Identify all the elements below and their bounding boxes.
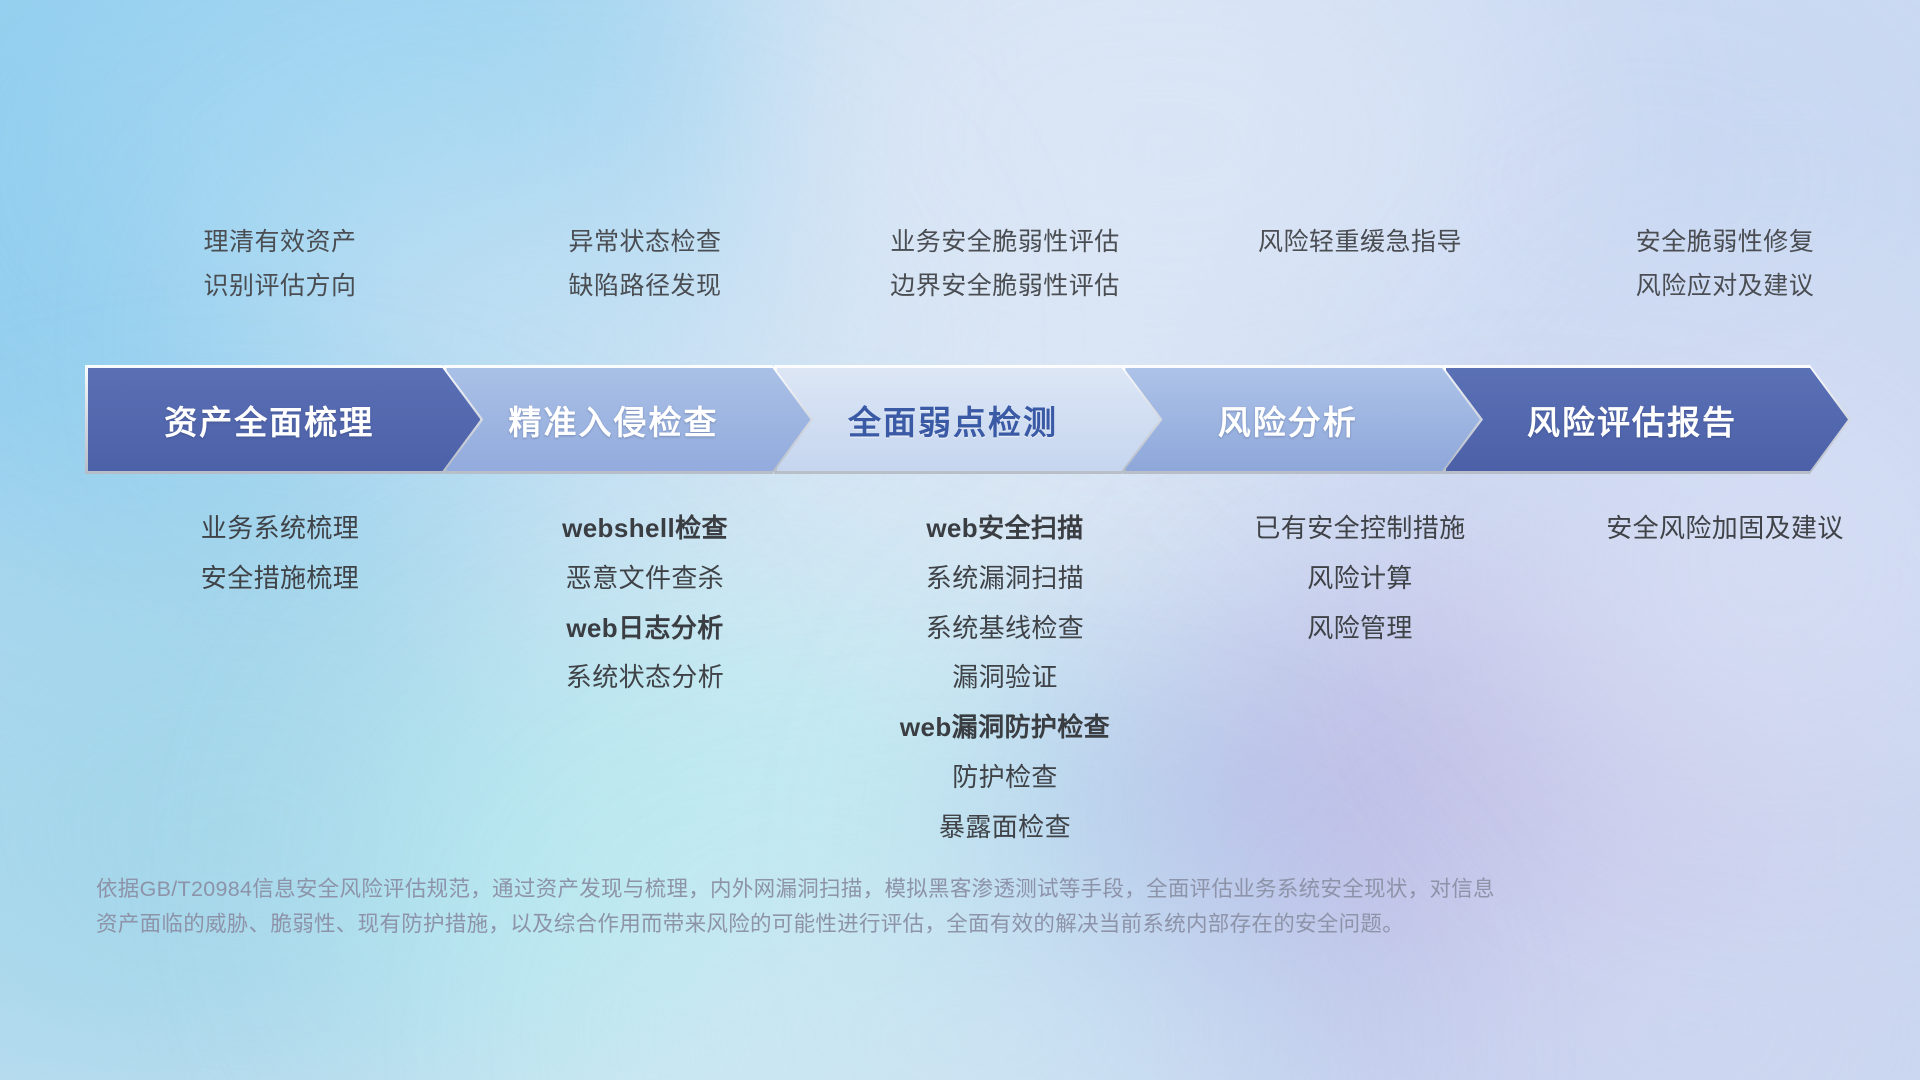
top-label-item: 缺陷路径发现 [568, 269, 721, 305]
chevron-title: 资产全面梳理 [88, 396, 480, 444]
chevron-title: 风险分析 [1125, 396, 1480, 444]
bottom-label-item: 安全风险加固及建议 [1606, 512, 1844, 546]
chevron-title: 精准入侵检查 [446, 396, 810, 444]
bottom-label-group-1: 业务系统梳理安全措施梳理 [90, 512, 470, 596]
bottom-label-item: 暴露面检查 [939, 811, 1071, 845]
top-label-group-5: 安全脆弱性修复风险应对及建议 [1530, 225, 1920, 315]
top-label-item: 异常状态检查 [568, 225, 721, 261]
bottom-label-item: 业务系统梳理 [201, 512, 359, 546]
bottom-label-item: 风险管理 [1307, 612, 1413, 646]
chevron-stage-5[interactable]: 风险评估报告 [1446, 368, 1848, 471]
bottom-label-item: 系统漏洞扫描 [926, 562, 1084, 596]
process-chevron-row: 资产全面梳理精准入侵检查全面弱点检测风险分析风险评估报告 [88, 368, 1848, 471]
bottom-label-item: 系统基线检查 [926, 612, 1084, 646]
bottom-label-item: 漏洞验证 [952, 661, 1058, 695]
top-label-group-4: 风险轻重缓急指导 [1190, 225, 1530, 315]
top-labels-row: 理清有效资产识别评估方向异常状态检查缺陷路径发现业务安全脆弱性评估边界安全脆弱性… [90, 225, 1840, 315]
top-label-item: 识别评估方向 [203, 269, 356, 305]
chevron-stage-3[interactable]: 全面弱点检测 [777, 368, 1160, 471]
footer-description: 依据GB/T20984信息安全风险评估规范，通过资产发现与梳理，内外网漏洞扫描，… [96, 872, 1606, 942]
chevron-title: 全面弱点检测 [777, 396, 1160, 444]
chevron-stage-1[interactable]: 资产全面梳理 [88, 368, 480, 471]
bottom-label-item: 防护检查 [952, 761, 1058, 795]
top-label-group-3: 业务安全脆弱性评估边界安全脆弱性评估 [820, 225, 1190, 315]
bottom-label-item: 恶意文件查杀 [566, 562, 724, 596]
top-label-item: 边界安全脆弱性评估 [890, 269, 1120, 305]
bottom-labels-row: 业务系统梳理安全措施梳理webshell检查恶意文件查杀web日志分析系统状态分… [90, 512, 1840, 845]
bottom-label-item: 安全措施梳理 [201, 562, 359, 596]
top-label-item: 安全脆弱性修复 [1636, 225, 1815, 261]
top-label-group-1: 理清有效资产识别评估方向 [90, 225, 470, 315]
bottom-label-item: web安全扫描 [926, 512, 1083, 546]
top-label-item: 风险应对及建议 [1636, 269, 1815, 305]
bottom-label-item: 已有安全控制措施 [1254, 512, 1465, 546]
bottom-label-item: 系统状态分析 [566, 661, 724, 695]
footer-line-1: 依据GB/T20984信息安全风险评估规范，通过资产发现与梳理，内外网漏洞扫描，… [96, 872, 1606, 907]
bottom-label-group-2: webshell检查恶意文件查杀web日志分析系统状态分析 [470, 512, 820, 695]
bottom-label-item: web日志分析 [566, 612, 723, 646]
bottom-label-item: webshell检查 [562, 512, 728, 546]
top-label-group-2: 异常状态检查缺陷路径发现 [470, 225, 820, 315]
bottom-label-group-3: web安全扫描系统漏洞扫描系统基线检查漏洞验证web漏洞防护检查防护检查暴露面检… [820, 512, 1190, 845]
chevron-stage-4[interactable]: 风险分析 [1125, 368, 1480, 471]
bottom-label-group-5: 安全风险加固及建议 [1530, 512, 1920, 546]
top-label-item: 业务安全脆弱性评估 [890, 225, 1120, 261]
bottom-label-item: web漏洞防护检查 [900, 711, 1110, 745]
bottom-label-group-4: 已有安全控制措施风险计算风险管理 [1190, 512, 1530, 645]
bottom-label-item: 风险计算 [1307, 562, 1413, 596]
chevron-stage-2[interactable]: 精准入侵检查 [446, 368, 810, 471]
footer-line-2: 资产面临的威胁、脆弱性、现有防护措施，以及综合作用而带来风险的可能性进行评估，全… [96, 907, 1606, 942]
top-label-item: 风险轻重缓急指导 [1258, 225, 1462, 261]
top-label-item: 理清有效资产 [203, 225, 356, 261]
chevron-title: 风险评估报告 [1446, 396, 1848, 444]
